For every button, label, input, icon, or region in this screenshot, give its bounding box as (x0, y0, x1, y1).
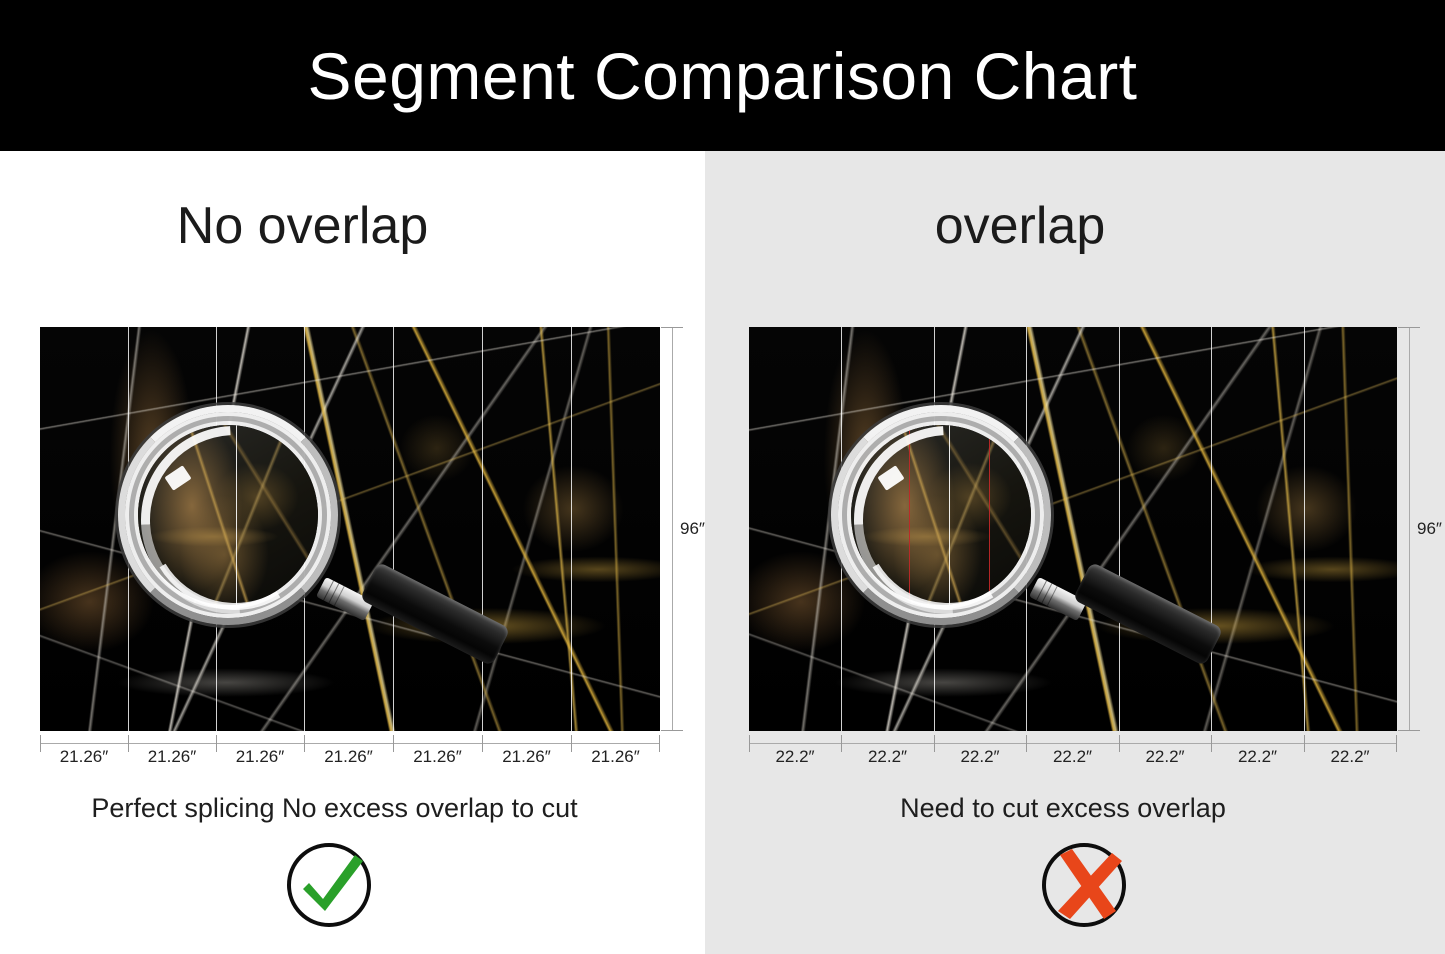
magnifier-lens (118, 405, 338, 625)
caption-overlap: Need to cut excess overlap (693, 793, 1433, 824)
segment-width-label: 21.26″ (40, 747, 128, 767)
height-label: 96″ (1417, 519, 1442, 539)
segment-width-label: 21.26″ (304, 747, 393, 767)
segment-width-label: 21.26″ (128, 747, 216, 767)
segment-width-label: 22.2″ (1119, 747, 1211, 767)
segment-width-label: 22.2″ (1211, 747, 1304, 767)
dimension-tick-top (661, 327, 683, 328)
check-icon (283, 839, 379, 935)
segment-width-label: 22.2″ (749, 747, 841, 767)
width-dimension-line-overlap: 22.2″ 22.2″ 22.2″ 22.2″ 22.2″ 22.2″ 22.2… (749, 731, 1397, 779)
magnifier-icon (118, 405, 518, 665)
segment-width-label: 21.26″ (571, 747, 660, 767)
verdict-check (283, 839, 379, 935)
height-label: 96″ (680, 519, 705, 539)
slab-no-overlap: 21.26″ 21.26″ 21.26″ 21.26″ 21.26″ 21.26… (40, 327, 660, 731)
segment-width-label: 22.2″ (934, 747, 1026, 767)
segment-width-label: 22.2″ (1026, 747, 1119, 767)
dimension-tick (1396, 735, 1397, 752)
magnifier-icon (831, 405, 1231, 665)
magnifier-handle (360, 562, 511, 667)
height-dimension-line-overlap: 96″ (1397, 323, 1437, 735)
panel-no-overlap: No overlap (0, 151, 705, 954)
width-dimension-line-no-overlap: 21.26″ 21.26″ 21.26″ 21.26″ 21.26″ 21.26… (40, 731, 660, 779)
magnifier-zoomed-marble (138, 425, 318, 605)
marble-slab-image (749, 327, 1397, 731)
title-bar: Segment Comparison Chart (0, 0, 1445, 151)
magnified-segment-seam (949, 425, 950, 605)
magnified-segment-seam (236, 425, 237, 605)
dimension-rule (749, 743, 1397, 744)
magnifier-lens (831, 405, 1051, 625)
segment-width-label: 21.26″ (482, 747, 571, 767)
comparison-chart-page: Segment Comparison Chart No overlap (0, 0, 1445, 954)
segment-width-label: 22.2″ (1304, 747, 1396, 767)
magnifier-handle (1073, 562, 1224, 667)
overlap-marker-right (989, 425, 990, 605)
panel-overlap: overlap (705, 151, 1445, 954)
segment-seam (571, 327, 572, 731)
dimension-rule (40, 743, 660, 744)
dimension-tick-bottom (661, 730, 683, 731)
caption-no-overlap: Perfect splicing No excess overlap to cu… (0, 793, 687, 824)
cross-icon (1038, 839, 1134, 935)
marble-slab-image (40, 327, 660, 731)
panel-heading-no-overlap: No overlap (0, 196, 655, 256)
panel-heading-overlap: overlap (650, 196, 1390, 256)
segment-width-label: 22.2″ (841, 747, 934, 767)
height-dimension-line-no-overlap: 96″ (660, 323, 700, 735)
magnifier-vein-layer (851, 425, 1031, 605)
segment-width-label: 21.26″ (216, 747, 304, 767)
dimension-tick-top (1398, 327, 1420, 328)
slab-overlap: 22.2″ 22.2″ 22.2″ 22.2″ 22.2″ 22.2″ 22.2… (749, 327, 1397, 731)
segment-seam (1304, 327, 1305, 731)
overlap-marker-left (909, 425, 910, 605)
verdict-cross (1038, 839, 1134, 935)
dimension-tick-bottom (1398, 730, 1420, 731)
segment-width-label: 21.26″ (393, 747, 482, 767)
dimension-rule (1409, 327, 1410, 731)
magnifier-vein-layer (138, 425, 318, 605)
magnifier-zoomed-marble (851, 425, 1031, 605)
page-title: Segment Comparison Chart (307, 38, 1137, 114)
dimension-rule (672, 327, 673, 731)
